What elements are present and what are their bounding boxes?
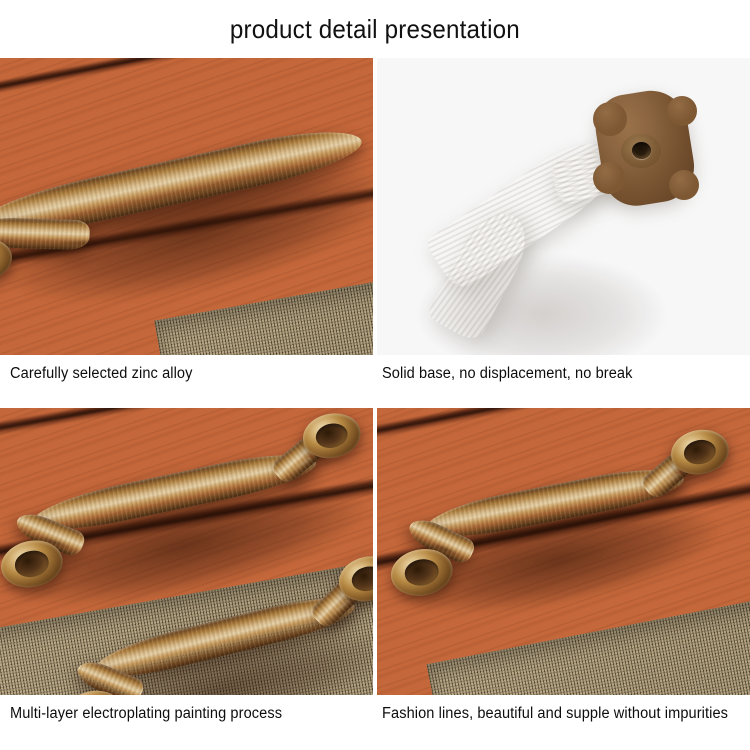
panel-2 <box>377 58 750 355</box>
handle-arm-left <box>0 217 90 250</box>
panel-1-caption: Carefully selected zinc alloy <box>10 365 348 383</box>
base-scallop <box>667 96 697 126</box>
base-scallop <box>593 102 627 136</box>
base-scallop <box>669 170 699 200</box>
panel-1 <box>0 58 373 355</box>
panel-3-photo <box>0 408 373 695</box>
panel-3 <box>0 408 373 695</box>
panel-2-caption: Solid base, no displacement, no break <box>382 365 730 383</box>
base-scallop <box>593 162 625 194</box>
panel-grid <box>0 58 750 750</box>
page-title-bar: product detail presentation <box>0 0 750 58</box>
panel-2-photo <box>377 58 750 355</box>
panel-3-caption: Multi-layer electroplating painting proc… <box>10 705 348 723</box>
panel-4 <box>377 408 750 695</box>
panel-4-photo <box>377 408 750 695</box>
page-title: product detail presentation <box>230 14 520 44</box>
product-detail-page: product detail presentation <box>0 0 750 750</box>
panel-4-caption: Fashion lines, beautiful and supple with… <box>382 705 732 723</box>
screw-hole <box>632 142 651 159</box>
panel-1-photo <box>0 58 373 355</box>
